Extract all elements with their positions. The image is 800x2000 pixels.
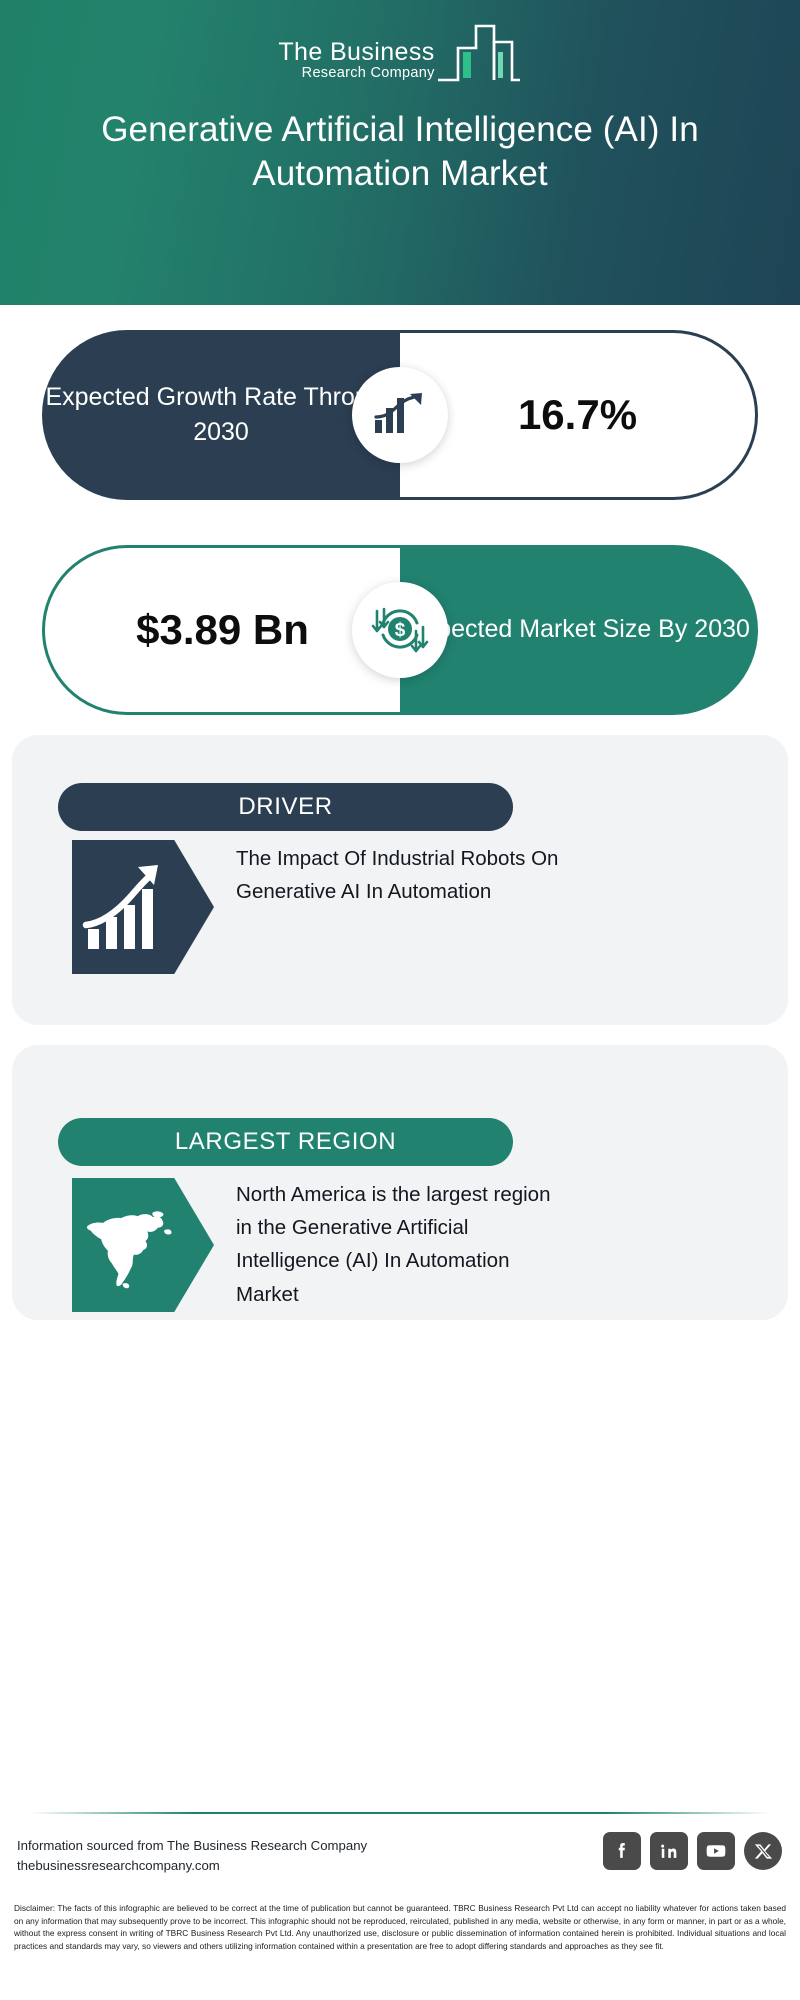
largest-region-badge-label: LARGEST REGION	[175, 1128, 396, 1156]
logo-bar-chart-icon	[436, 22, 522, 84]
x-twitter-icon[interactable]	[744, 1832, 782, 1870]
page-title: Generative Artificial Intelligence (AI) …	[40, 108, 760, 197]
svg-text:$: $	[395, 620, 406, 641]
driver-badge: DRIVER	[58, 783, 513, 831]
disclaimer-text: Disclaimer: The facts of this infographi…	[14, 1902, 786, 1952]
source-line-1: Information sourced from The Business Re…	[17, 1836, 367, 1856]
market-size-value-panel: $3.89 Bn	[42, 545, 400, 715]
largest-region-text: North America is the largest region in t…	[236, 1178, 561, 1311]
growth-rate-label-panel: Expected Growth Rate Through 2030	[42, 330, 400, 500]
social-links	[603, 1832, 782, 1870]
largest-region-badge: LARGEST REGION	[58, 1118, 513, 1166]
footer-divider	[30, 1812, 770, 1814]
market-size-label-panel: Expected Market Size By 2030	[400, 545, 758, 715]
market-size-value: $3.89 Bn	[136, 605, 309, 655]
logo-text: The Business Research Company	[278, 40, 434, 84]
source-website[interactable]: thebusinessresearchcompany.com	[17, 1856, 367, 1876]
growth-chart-arrow-icon	[352, 367, 448, 463]
market-size-label: Expected Market Size By 2030	[408, 612, 750, 648]
dollar-cycle-icon: $	[352, 582, 448, 678]
logo-secondary-text: Research Company	[302, 65, 435, 82]
stat-card-growth-rate: Expected Growth Rate Through 2030 16.7%	[42, 330, 758, 500]
source-attribution: Information sourced from The Business Re…	[17, 1836, 367, 1876]
company-logo: The Business Research Company	[278, 22, 521, 84]
growth-rate-value: 16.7%	[518, 390, 637, 440]
youtube-icon[interactable]	[697, 1832, 735, 1870]
header-banner: The Business Research Company Generative…	[0, 0, 800, 305]
logo-primary-text: The Business	[278, 40, 434, 66]
growth-rate-label: Expected Growth Rate Through 2030	[42, 380, 400, 451]
stat-card-market-size: $3.89 Bn Expected Market Size By 2030 $	[42, 545, 758, 715]
driver-text: The Impact Of Industrial Robots On Gener…	[236, 842, 576, 908]
growth-rate-value-panel: 16.7%	[400, 330, 758, 500]
linkedin-icon[interactable]	[650, 1832, 688, 1870]
facebook-icon[interactable]	[603, 1832, 641, 1870]
driver-badge-label: DRIVER	[238, 793, 332, 821]
